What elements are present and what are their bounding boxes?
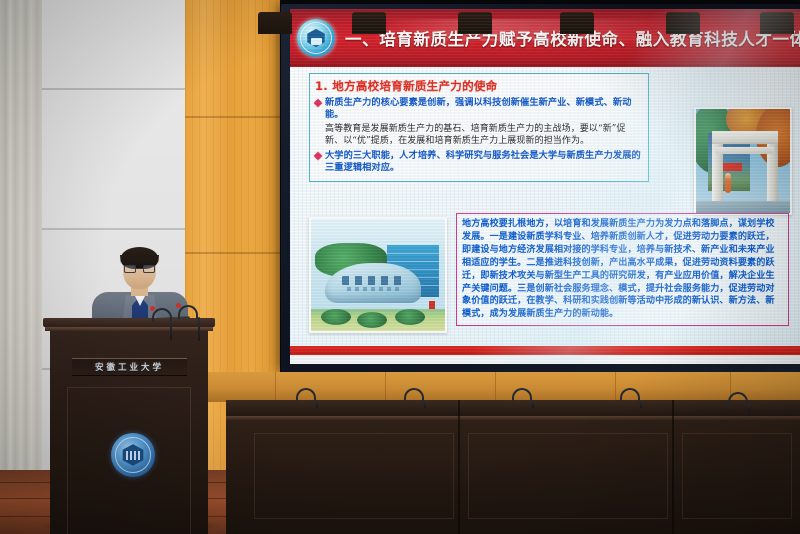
- gooseneck-microphone-icon: [512, 388, 534, 406]
- slide-heading: 1. 地方高校培育新质生产力的使命: [315, 78, 643, 94]
- gooseneck-microphone-icon: [404, 388, 426, 406]
- podium: 安徽工业大学: [43, 318, 215, 534]
- bullet-body-text: 高等教育是发展新质生产力的基石、培育新质生产力的主战场，要以“新”促新、以“优”…: [325, 123, 643, 148]
- chair-back: [760, 12, 794, 34]
- gooseneck-microphone-icon: [152, 308, 172, 338]
- slide-body: 1. 地方高校培育新质生产力的使命 新质生产力的核心要素是创新，强调以科技创新催…: [290, 67, 800, 355]
- chair-back: [258, 12, 292, 34]
- bullet-item: 大学的三大职能，人才培养、科学研究与服务社会是大学与新质生产力发展的三重逻辑相对…: [315, 150, 643, 175]
- slide-paragraph: 地方高校要扎根地方，以培育和发展新质生产力为发力点和落脚点，谋划学校发展。一是建…: [462, 218, 783, 321]
- lecture-hall-scene: 一、培育新质生产力赋予高校新使命、融入教育科技人才一体化 1. 地方高校培育新质…: [0, 0, 800, 534]
- bullet-blue-text: 新质生产力的核心要素是创新，强调以科技创新催生新产业、新模式、新动能。: [325, 97, 643, 122]
- gooseneck-microphone-icon: [296, 388, 318, 406]
- gooseneck-microphone-icon: [728, 392, 750, 410]
- chair-back: [352, 12, 386, 34]
- eyeglasses-icon: [124, 265, 155, 273]
- diamond-bullet-icon: [314, 99, 322, 107]
- stage-back-band: [185, 372, 800, 402]
- campus-stone-monument-photo: [309, 217, 447, 333]
- university-emblem-icon: [111, 433, 155, 477]
- slide-top-textbox: 1. 地方高校培育新质生产力的使命 新质生产力的核心要素是创新，强调以科技创新催…: [309, 73, 649, 182]
- university-emblem-icon: [297, 19, 335, 57]
- campus-gate-photo: [694, 107, 792, 215]
- chair-back: [458, 12, 492, 34]
- presentation-slide: 一、培育新质生产力赋予高校新使命、融入教育科技人才一体化 1. 地方高校培育新质…: [290, 9, 800, 364]
- bullet-blue-text: 大学的三大职能，人才培养、科学研究与服务社会是大学与新质生产力发展的三重逻辑相对…: [325, 150, 643, 175]
- stage-curtain: [0, 0, 42, 470]
- gooseneck-microphone-icon: [178, 305, 200, 339]
- bullet-item: 新质生产力的核心要素是创新，强调以科技创新催生新产业、新模式、新动能。: [315, 97, 643, 122]
- podium-plaque: 安徽工业大学: [72, 358, 187, 376]
- slide-bottom-textbox: 地方高校要扎根地方，以培育和发展新质生产力为发力点和落脚点，谋划学校发展。一是建…: [456, 213, 789, 326]
- chair-back: [666, 12, 700, 34]
- chair-back: [560, 12, 594, 34]
- diamond-bullet-icon: [314, 151, 322, 159]
- podium-plaque-text: 安徽工业大学: [95, 361, 164, 373]
- conference-table-row: [226, 400, 800, 534]
- slide-footer-band: [290, 346, 800, 355]
- gooseneck-microphone-icon: [620, 388, 642, 406]
